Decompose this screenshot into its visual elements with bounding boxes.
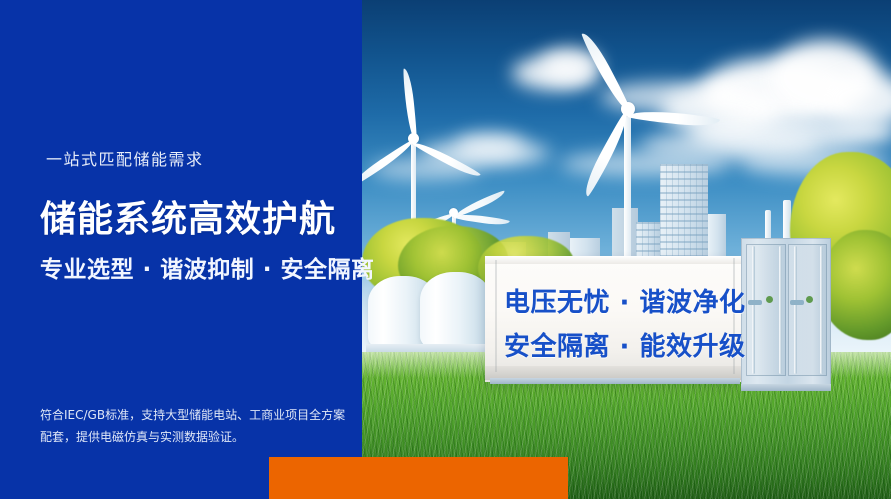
door-locking-rod-d — [820, 246, 823, 374]
door-handle-right — [790, 300, 804, 305]
door-locking-rod-c — [794, 246, 797, 374]
container-skid — [490, 378, 740, 384]
door-locking-rod-b — [779, 246, 782, 374]
panel-bottom-fill — [0, 452, 270, 499]
container-sign-line2: 安全隔离 · 能效升级 — [504, 326, 745, 363]
storage-tank-right — [420, 272, 492, 354]
panel-tagline: 一站式匹配储能需求 — [46, 146, 204, 170]
panel-subline: 专业选型 · 谐波抑制 · 安全隔离 — [40, 250, 375, 284]
battery-container-body — [485, 258, 743, 382]
door-handle-left — [748, 300, 762, 305]
door-locking-rod-a — [752, 246, 755, 374]
door-vent-right — [806, 296, 813, 303]
panel-footnote: 符合IEC/GB标准，支持大型储能电站、工商业项目全方案配套，提供电磁仿真与实测… — [40, 404, 346, 448]
container-rib-left — [495, 260, 497, 372]
wind-turbine-large — [600, 20, 800, 270]
container-end-skid — [741, 384, 831, 391]
orange-accent-bar — [269, 457, 568, 499]
container-sign-line1: 电压无忧 · 谐波净化 — [504, 282, 745, 319]
panel-headline: 储能系统高效护航 — [40, 190, 336, 242]
door-vent-left — [766, 296, 773, 303]
promo-banner: 电压无忧 · 谐波净化 安全隔离 · 能效升级 一站式匹配储能需求 储能系统高效… — [0, 0, 891, 499]
container-top-edge — [485, 256, 743, 264]
left-blue-panel: 一站式匹配储能需求 储能系统高效护航 专业选型 · 谐波抑制 · 安全隔离 符合… — [0, 0, 362, 499]
